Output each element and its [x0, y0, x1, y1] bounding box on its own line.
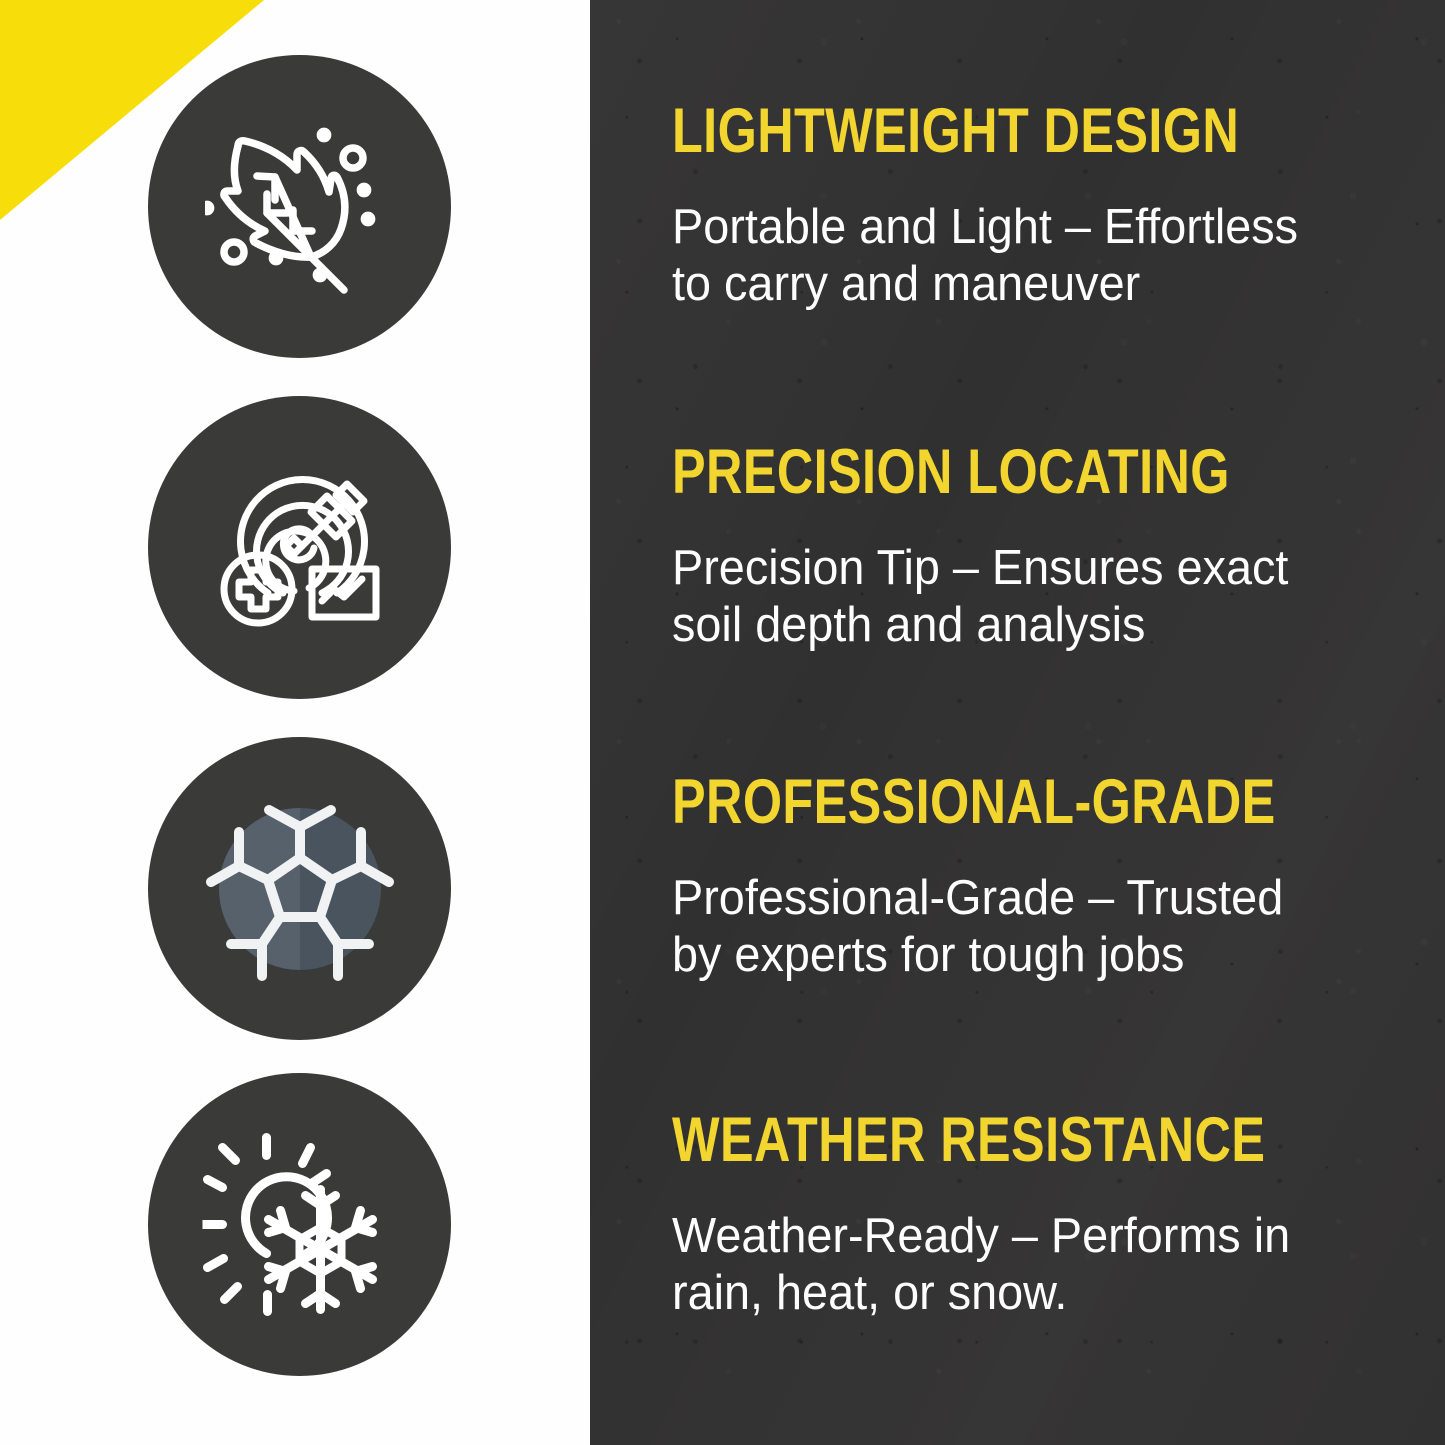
feature-icon-badge-weather: [148, 1073, 451, 1376]
feature-heading: WEATHER RESISTANCE: [672, 1108, 1232, 1172]
feature-block-weather: WEATHER RESISTANCE Weather-Ready – Perfo…: [672, 1108, 1372, 1322]
feature-block-professional: PROFESSIONAL-GRADE Professional-Grade – …: [672, 770, 1372, 984]
feature-description: Precision Tip – Ensures exact soil depth…: [672, 540, 1302, 654]
feature-heading: LIGHTWEIGHT DESIGN: [672, 99, 1232, 163]
icon-column-panel: [0, 0, 590, 1445]
feature-description: Portable and Light – Effortless to carry…: [672, 199, 1302, 313]
feature-heading: PRECISION LOCATING: [672, 440, 1232, 504]
feature-heading: PROFESSIONAL-GRADE: [672, 770, 1232, 834]
feature-icon-badge-professional: [148, 737, 451, 1040]
feature-text-panel: LIGHTWEIGHT DESIGN Portable and Light – …: [590, 0, 1445, 1445]
leaf-feather-icon: [205, 112, 395, 302]
sun-snowflake-icon: [202, 1127, 397, 1322]
feature-icon-badge-precision: [148, 396, 451, 699]
feature-icon-badge-lightweight: [148, 55, 451, 358]
honeycomb-molecule-icon: [205, 794, 395, 984]
product-feature-infographic: LIGHTWEIGHT DESIGN Portable and Light – …: [0, 0, 1445, 1445]
target-precision-icon: [210, 458, 390, 638]
feature-description: Professional-Grade – Trusted by experts …: [672, 870, 1302, 984]
feature-block-precision: PRECISION LOCATING Precision Tip – Ensur…: [672, 440, 1372, 654]
feature-description: Weather-Ready – Performs in rain, heat, …: [672, 1208, 1302, 1322]
feature-block-lightweight: LIGHTWEIGHT DESIGN Portable and Light – …: [672, 99, 1372, 313]
